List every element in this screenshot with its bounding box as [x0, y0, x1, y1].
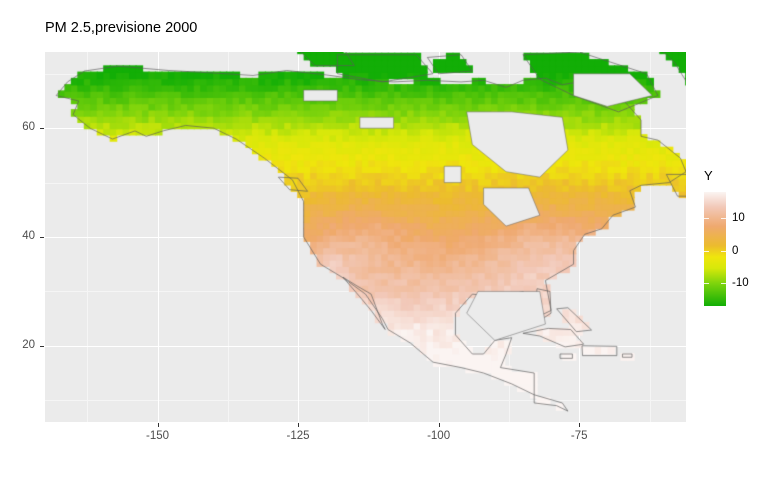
colorbar-tick-mark: [721, 251, 726, 252]
x-axis-tick-label: -150: [128, 430, 188, 442]
page-title: PM 2.5,previsione 2000: [45, 20, 197, 36]
colorbar-tick-mark: [704, 218, 709, 219]
colorbar-tick-label: 0: [732, 245, 738, 257]
x-axis-tick-label: -75: [549, 430, 609, 442]
y-axis-tick-label: 60: [8, 121, 35, 133]
colorbar-tick-label: 10: [732, 212, 745, 224]
plot-panel: [45, 52, 686, 422]
x-axis-tick-label: -125: [268, 430, 328, 442]
colorbar-gradient: [704, 192, 726, 306]
y-axis-tick-label: 20: [8, 339, 35, 351]
y-axis-tick-mark: [40, 346, 44, 347]
legend-title: Y: [704, 168, 713, 183]
y-axis-tick-label: 40: [8, 230, 35, 242]
x-axis-tick-mark: [579, 423, 580, 427]
x-axis-tick-mark: [298, 423, 299, 427]
colorbar-tick-mark: [704, 251, 709, 252]
raster-canvas: [45, 52, 686, 422]
colorbar-tick-mark: [721, 218, 726, 219]
colorbar-tick-mark: [704, 283, 709, 284]
raster-map-layer: [45, 52, 686, 422]
x-axis-tick-label: -100: [409, 430, 469, 442]
colorbar-tick-mark: [721, 283, 726, 284]
y-axis-tick-mark: [40, 237, 44, 238]
x-axis-tick-mark: [158, 423, 159, 427]
x-axis-tick-mark: [439, 423, 440, 427]
colorbar-tick-label: -10: [732, 277, 749, 289]
ggplot-figure: PM 2.5,previsione 2000 604020 -150-125-1…: [0, 0, 766, 479]
y-axis-tick-mark: [40, 128, 44, 129]
